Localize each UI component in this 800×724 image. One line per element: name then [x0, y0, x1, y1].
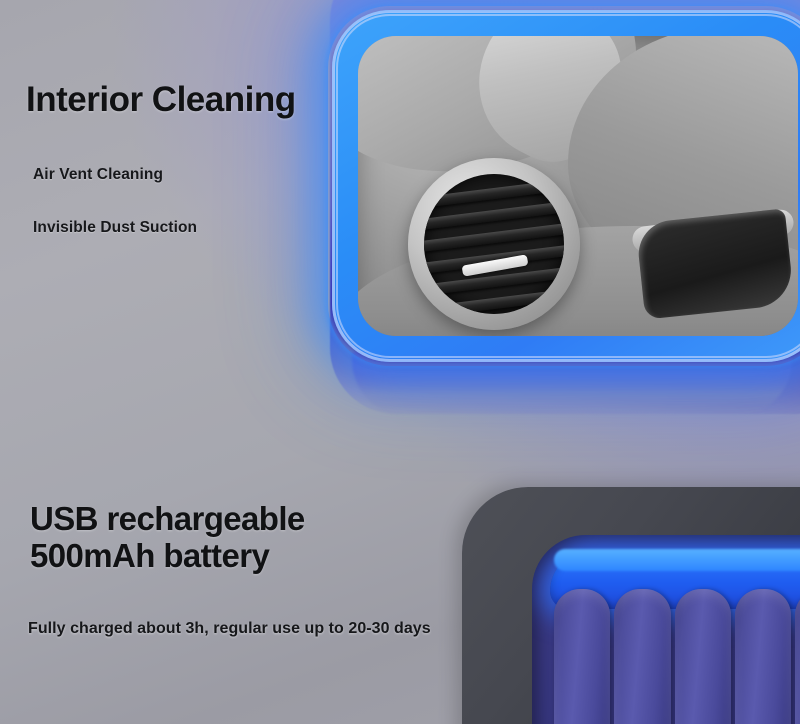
air-vent: [408, 158, 580, 330]
battery-cell: [554, 589, 610, 724]
air-vent-interior: [424, 174, 564, 314]
battery-cell-group: [554, 589, 800, 724]
battery-cell: [614, 589, 670, 724]
feature-bullet-invisible-dust-suction: Invisible Dust Suction: [33, 219, 197, 237]
product-feature-page: CLEANER Interior Cleaning Air Vent Clean…: [0, 0, 800, 724]
section-two-subline: Fully charged about 3h, regular use up t…: [28, 620, 431, 638]
battery-recess: [532, 535, 800, 724]
feature-bullet-air-vent-cleaning: Air Vent Cleaning: [33, 166, 163, 184]
section-two-headline-line2: 500mAh battery: [30, 537, 305, 574]
battery-glow-highlight: [554, 549, 800, 571]
section-interior-cleaning: CLEANER Interior Cleaning Air Vent Clean…: [0, 0, 800, 430]
battery-cell: [795, 589, 800, 724]
car-interior-photo: CLEANER: [358, 36, 798, 336]
battery-cell: [735, 589, 791, 724]
photo-frame: CLEANER: [332, 10, 800, 362]
section-two-headline: USB rechargeable 500mAh battery: [30, 500, 305, 574]
door-pocket: [635, 208, 794, 319]
section-one-headline: Interior Cleaning: [26, 80, 296, 120]
section-usb-rechargeable: USB rechargeable 500mAh battery Fully ch…: [0, 430, 800, 724]
battery-shell: [462, 487, 800, 724]
section-two-headline-line1: USB rechargeable: [30, 500, 305, 537]
battery-cell: [675, 589, 731, 724]
